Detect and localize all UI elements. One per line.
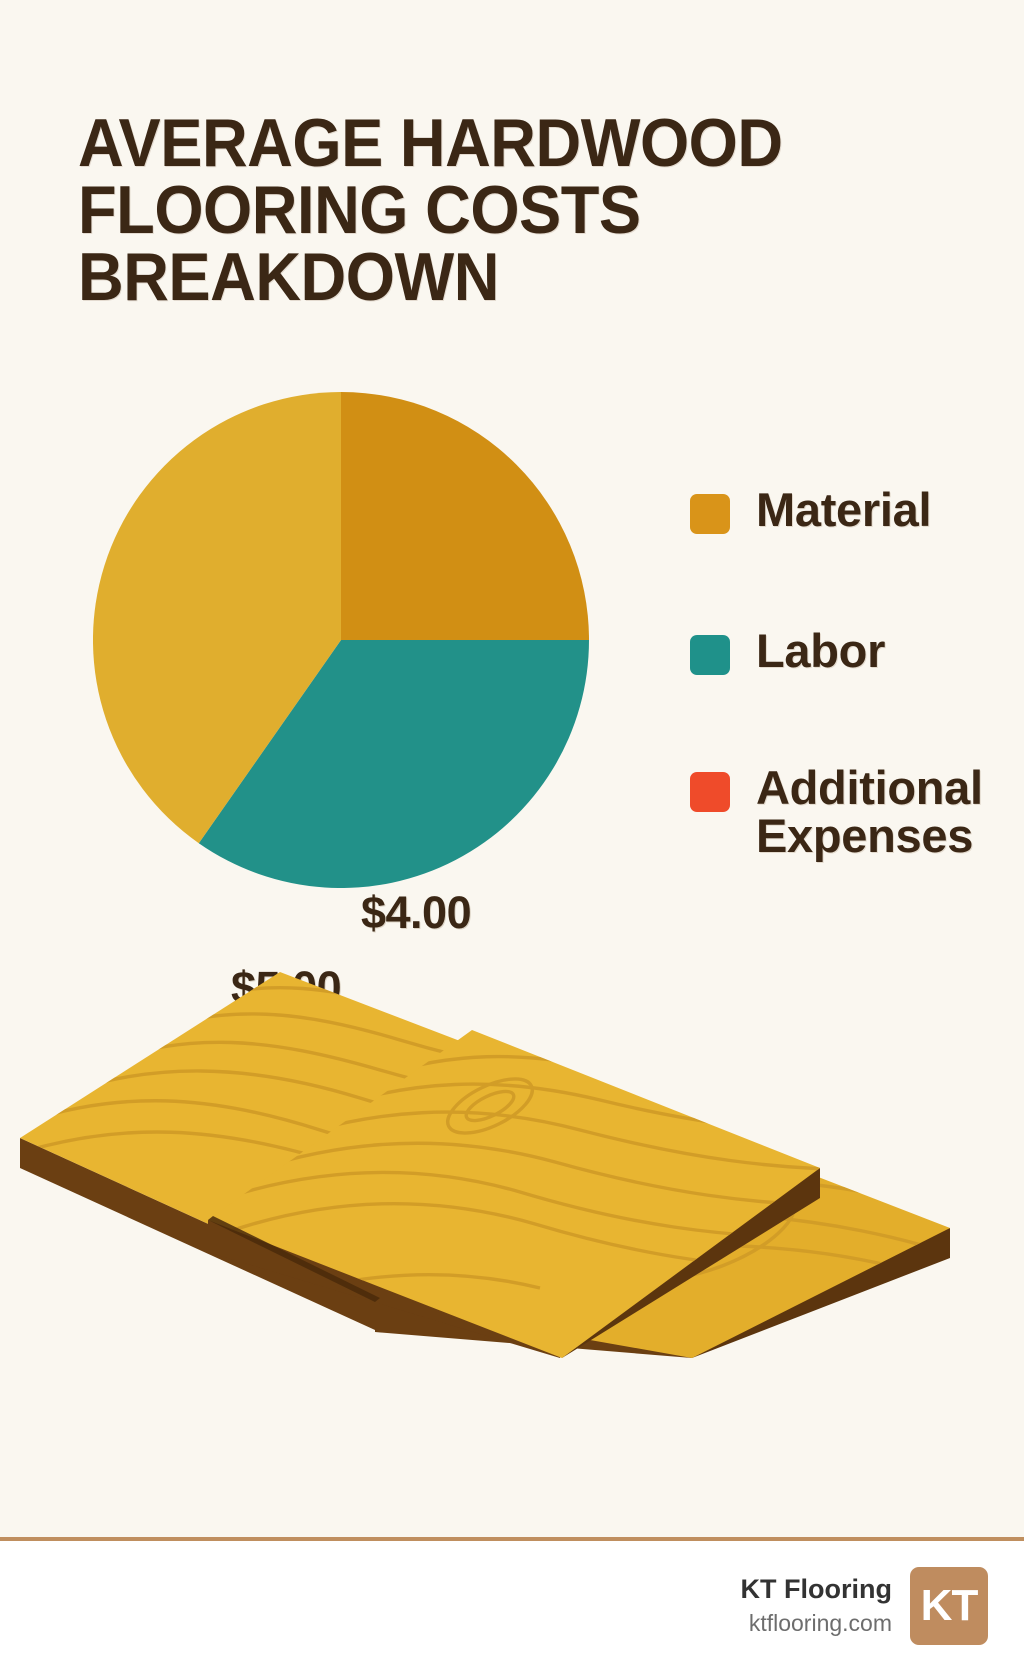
legend-label-material: Material [756, 486, 931, 534]
legend-swatch-material [690, 494, 730, 534]
brand-name: KT Flooring [741, 1573, 892, 1605]
legend-item-labor[interactable]: Labor [690, 627, 885, 675]
footer-brand: KT Flooring ktflooring.com KT [741, 1567, 988, 1645]
pie-chart-svg [93, 392, 589, 888]
legend-item-material[interactable]: Material [690, 486, 931, 534]
legend-swatch-labor [690, 635, 730, 675]
legend-label-labor: Labor [756, 627, 885, 675]
hardwood-planks-svg [20, 880, 950, 1360]
infographic-poster: Average Hardwood Flooring Costs Breakdow… [0, 0, 1024, 1666]
hardwood-planks-illustration [20, 880, 950, 1360]
legend-label-additional-expenses: Additional Expenses [756, 764, 990, 861]
page-title: Average Hardwood Flooring Costs Breakdow… [78, 110, 859, 312]
pie-chart: $4.00 $4.00 $5.00 [93, 392, 589, 888]
brand-logo: KT [910, 1567, 988, 1645]
footer-brand-text: KT Flooring ktflooring.com [741, 1573, 892, 1639]
pie-slice-material[interactable] [341, 392, 589, 640]
legend-swatch-additional-expenses [690, 772, 730, 812]
brand-url[interactable]: ktflooring.com [741, 1608, 892, 1639]
footer: KT Flooring ktflooring.com KT [0, 1541, 1024, 1666]
legend-item-additional-expenses[interactable]: Additional Expenses [690, 764, 990, 861]
